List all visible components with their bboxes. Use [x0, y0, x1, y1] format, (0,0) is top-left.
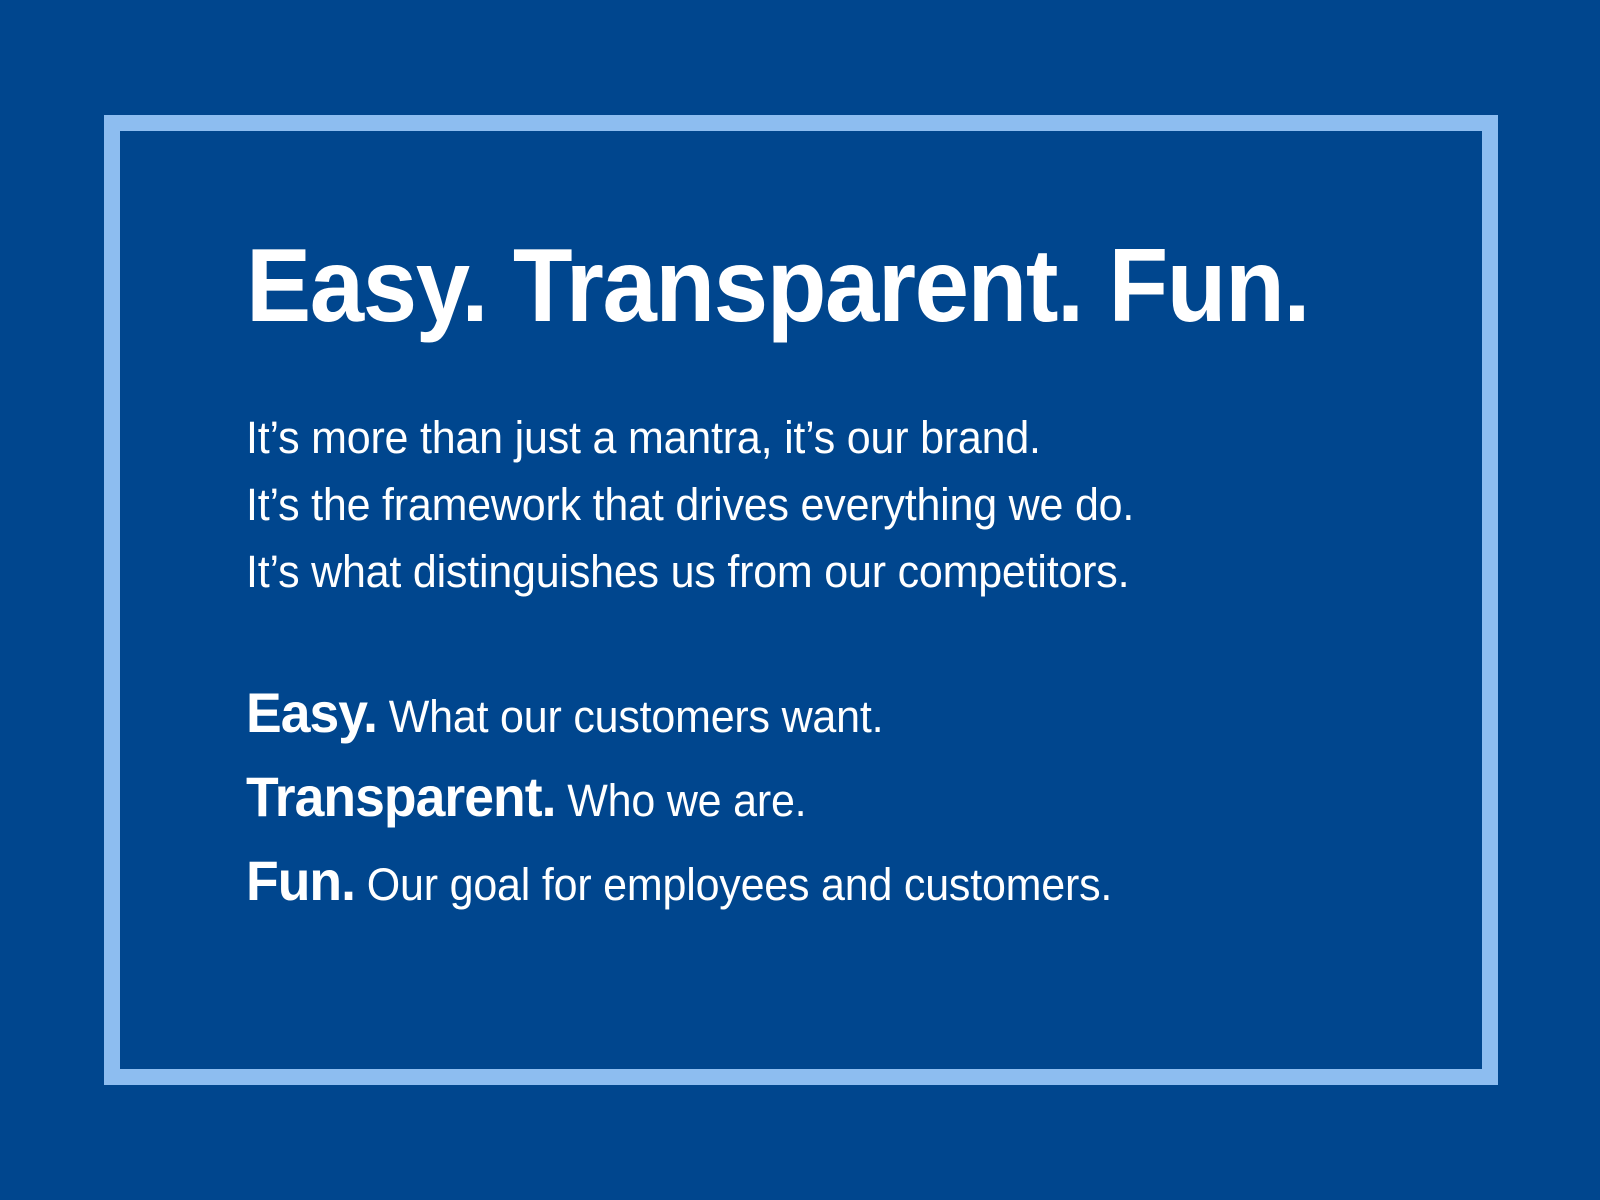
slide-content: Easy. Transparent. Fun. It’s more than j… — [246, 230, 1396, 925]
definition-item-transparent: Transparent. Who we are. — [246, 757, 1344, 841]
definition-item-easy: Easy. What our customers want. — [246, 673, 1344, 757]
definition-description-easy: What our customers want. — [389, 691, 884, 742]
page-title: Easy. Transparent. Fun. — [246, 230, 1327, 342]
definition-description-fun: Our goal for employees and customers. — [367, 859, 1112, 910]
definition-description-transparent: Who we are. — [567, 775, 806, 826]
intro-line-3: It’s what distinguishes us from our comp… — [246, 538, 1344, 605]
intro-line-2: It’s the framework that drives everythin… — [246, 471, 1344, 538]
definition-item-fun: Fun. Our goal for employees and customer… — [246, 841, 1344, 925]
intro-line-1: It’s more than just a mantra, it’s our b… — [246, 404, 1344, 471]
intro-paragraph: It’s more than just a mantra, it’s our b… — [246, 404, 1396, 605]
definition-list: Easy. What our customers want. Transpare… — [246, 673, 1396, 925]
definition-term-transparent: Transparent. — [246, 765, 556, 828]
slide-canvas: Easy. Transparent. Fun. It’s more than j… — [0, 0, 1600, 1200]
definition-term-easy: Easy. — [246, 681, 377, 744]
definition-term-fun: Fun. — [246, 849, 355, 912]
